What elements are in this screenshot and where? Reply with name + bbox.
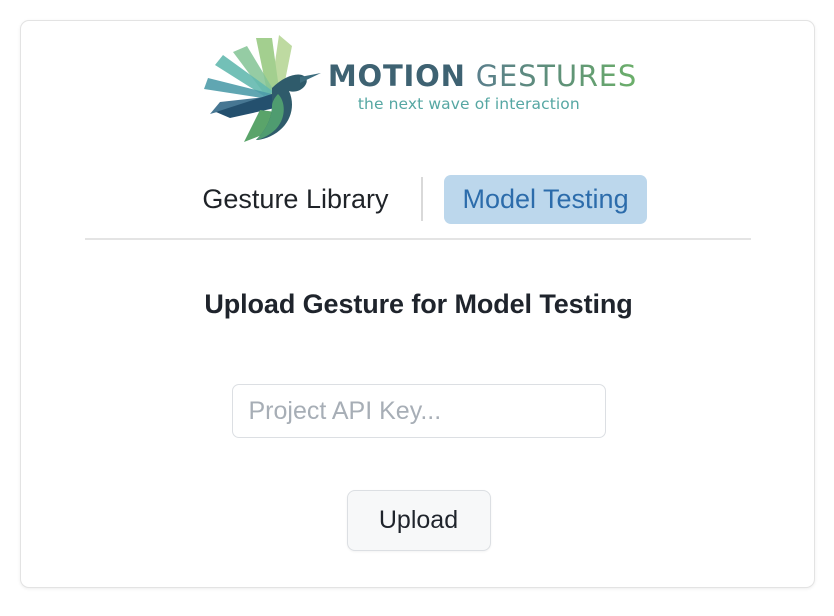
wordmark-line: MOTION GESTURES [328,61,637,91]
tab-gesture-library[interactable]: Gesture Library [190,175,400,224]
brand-logo-inner: MOTION GESTURES the next wave of interac… [200,32,637,144]
hummingbird-logo-icon [200,32,322,144]
wordmark-motion: MOTION [328,59,466,93]
tab-bar: Gesture Library Model Testing [21,166,816,232]
api-key-field-row [21,384,816,438]
tab-separator [421,177,423,221]
section-divider [85,238,751,240]
wordmark-gestures: GESTURES [476,59,637,93]
brand-logo: MOTION GESTURES the next wave of interac… [21,29,816,147]
upload-button-row: Upload [21,490,816,551]
upload-button[interactable]: Upload [347,490,491,551]
brand-wordmark: MOTION GESTURES the next wave of interac… [328,61,637,114]
api-key-input[interactable] [232,384,606,438]
tab-model-testing[interactable]: Model Testing [444,175,646,224]
page-title: Upload Gesture for Model Testing [21,289,816,320]
brand-tagline: the next wave of interaction [358,95,580,113]
model-testing-card: MOTION GESTURES the next wave of interac… [20,20,815,588]
app-page: MOTION GESTURES the next wave of interac… [0,0,834,616]
